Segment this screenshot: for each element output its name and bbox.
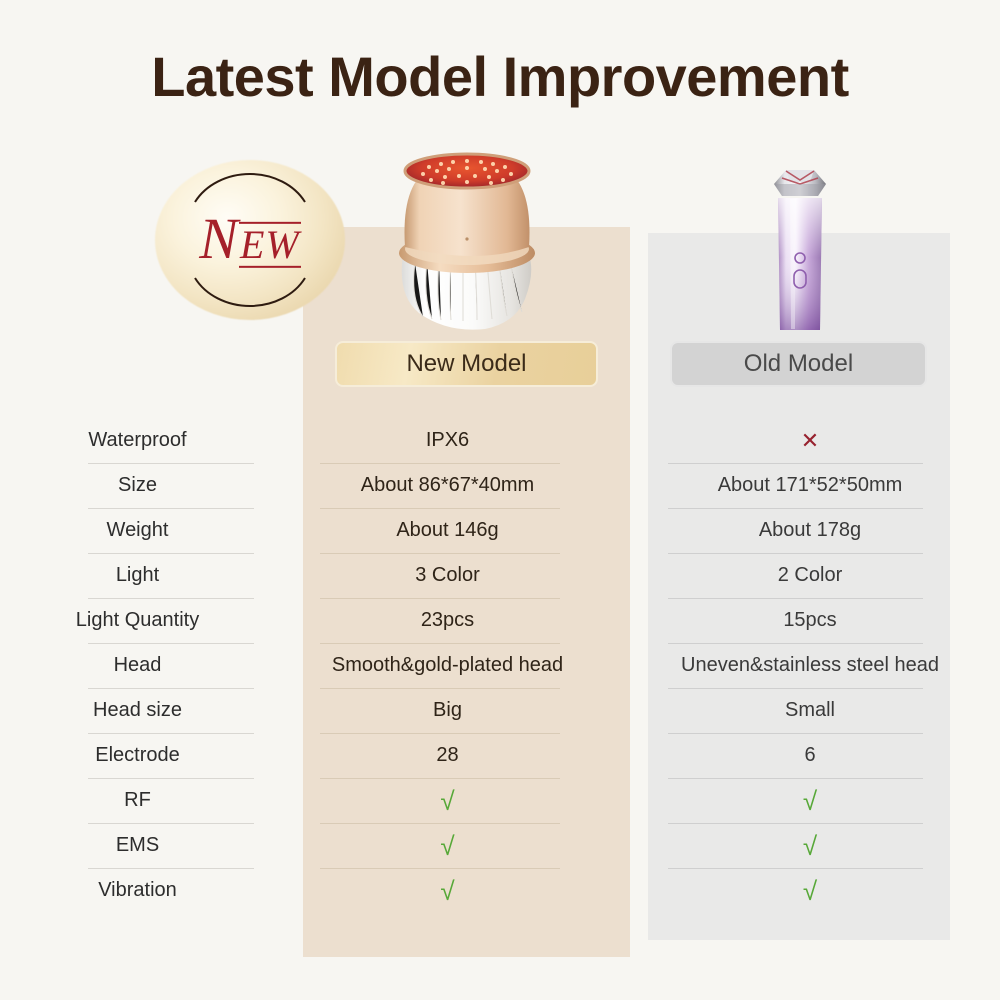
feature-label-10: Vibration (0, 868, 275, 913)
table-row: SizeAbout 86*67*40mmAbout 171*52*50mm (0, 463, 1000, 508)
old-model-value-6: Small (620, 688, 1000, 733)
new-model-value-6: Big (275, 688, 620, 733)
old-model-value-9: √ (620, 823, 1000, 868)
old-model-value-1: About 171*52*50mm (620, 463, 1000, 508)
check-icon: √ (803, 878, 817, 904)
new-model-value-0: IPX6 (275, 418, 620, 463)
old-model-value-4: 15pcs (620, 598, 1000, 643)
new-model-value-8: √ (275, 778, 620, 823)
new-model-value-1: About 86*67*40mm (275, 463, 620, 508)
cross-icon: ✕ (801, 430, 819, 452)
feature-label-2: Weight (0, 508, 275, 553)
old-model-value-2: About 178g (620, 508, 1000, 553)
new-model-value-7: 28 (275, 733, 620, 778)
new-badge: NEW (155, 160, 345, 320)
feature-label-1: Size (0, 463, 275, 508)
table-row: Electrode286 (0, 733, 1000, 778)
feature-label-8: RF (0, 778, 275, 823)
check-icon: √ (440, 833, 454, 859)
table-row: Light Quantity23pcs15pcs (0, 598, 1000, 643)
old-model-value-3: 2 Color (620, 553, 1000, 598)
feature-label-6: Head size (0, 688, 275, 733)
new-model-value-10: √ (275, 868, 620, 913)
new-model-header: New Model (335, 341, 598, 387)
table-row: HeadSmooth&gold-plated headUneven&stainl… (0, 643, 1000, 688)
table-row: WaterproofIPX6✕ (0, 418, 1000, 463)
table-row: WeightAbout 146gAbout 178g (0, 508, 1000, 553)
table-row: RF√√ (0, 778, 1000, 823)
badge-letter-n: N (199, 206, 239, 271)
table-row: Light3 Color2 Color (0, 553, 1000, 598)
check-icon: √ (803, 788, 817, 814)
feature-label-4: Light Quantity (0, 598, 275, 643)
new-model-value-2: About 146g (275, 508, 620, 553)
badge-text: NEW (155, 210, 345, 268)
table-row: EMS√√ (0, 823, 1000, 868)
badge-letters-ew: EW (239, 222, 301, 268)
check-icon: √ (803, 833, 817, 859)
check-icon: √ (440, 788, 454, 814)
new-model-value-9: √ (275, 823, 620, 868)
feature-label-5: Head (0, 643, 275, 688)
new-model-value-5: Smooth&gold-plated head (275, 643, 620, 688)
old-model-value-7: 6 (620, 733, 1000, 778)
table-row: Head sizeBigSmall (0, 688, 1000, 733)
old-model-value-10: √ (620, 868, 1000, 913)
new-model-value-3: 3 Color (275, 553, 620, 598)
old-model-value-5: Uneven&stainless steel head (620, 643, 1000, 688)
old-model-header: Old Model (670, 341, 927, 387)
feature-label-3: Light (0, 553, 275, 598)
feature-label-7: Electrode (0, 733, 275, 778)
infographic-canvas: Latest Model Improvement NEW (0, 0, 1000, 1000)
new-model-value-4: 23pcs (275, 598, 620, 643)
new-device-image (381, 143, 553, 333)
old-model-value-0: ✕ (620, 418, 1000, 463)
table-row: Vibration√√ (0, 868, 1000, 913)
feature-label-9: EMS (0, 823, 275, 868)
old-model-value-8: √ (620, 778, 1000, 823)
feature-label-0: Waterproof (0, 418, 275, 463)
page-title: Latest Model Improvement (0, 44, 1000, 109)
comparison-table: WaterproofIPX6✕SizeAbout 86*67*40mmAbout… (0, 418, 1000, 913)
check-icon: √ (440, 878, 454, 904)
old-device-image (760, 158, 840, 338)
